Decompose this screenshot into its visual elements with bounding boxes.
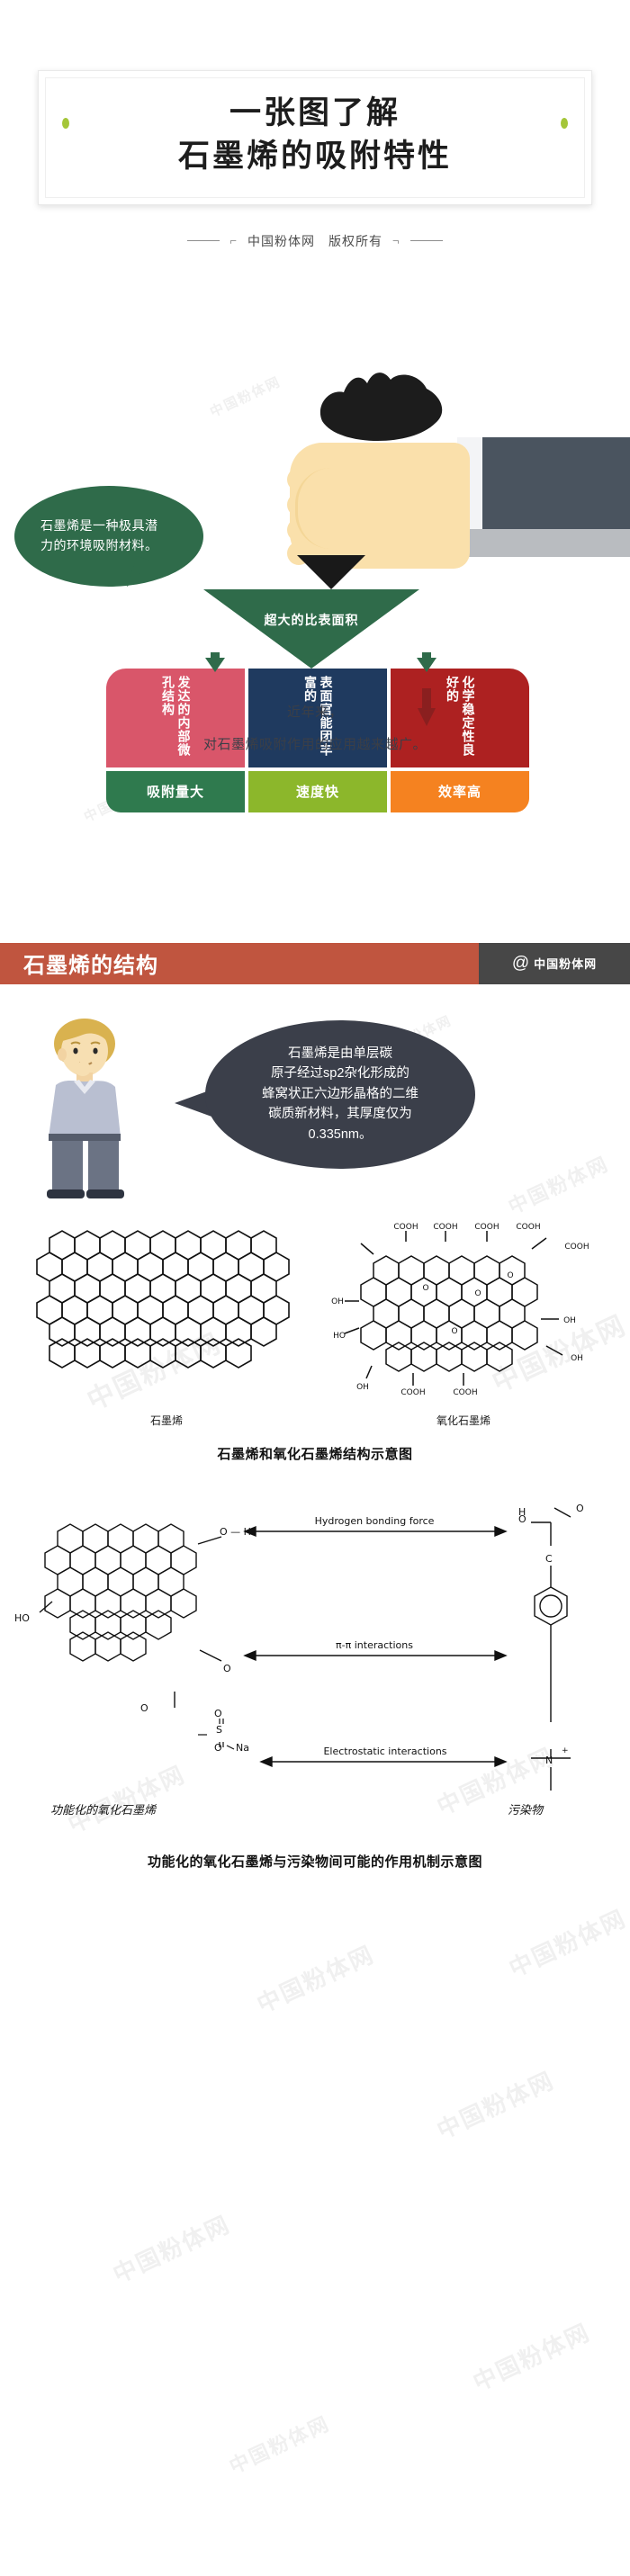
- svg-text:COOH: COOH: [516, 1223, 540, 1232]
- structure-line2: 原子经过sp2杂化形成的: [236, 1064, 445, 1083]
- structure-bubble-text: 石墨烯是由单层碳 原子经过sp2杂化形成的 蜂窝状正六边形晶格的二维 碳质新材料…: [236, 1044, 445, 1144]
- mechanism-diagram: O — H HO O O S O O Na: [0, 1463, 630, 1839]
- svg-text:COOH: COOH: [400, 1388, 425, 1397]
- interaction-3-label: Electrostatic interactions: [323, 1746, 446, 1757]
- o-bottom: O: [214, 1742, 222, 1754]
- funnel-neck: [297, 555, 365, 589]
- svg-text:COOH: COOH: [433, 1223, 457, 1232]
- page-title-line1: 一张图了解: [39, 94, 591, 134]
- intro-bubble-line1: 石墨烯是一种极具潜: [40, 516, 177, 536]
- mid-paragraph-line2: 对石墨烯吸附作用的应用越来越广。: [0, 732, 630, 758]
- structure-speech-bubble: 石墨烯是由单层碳 原子经过sp2杂化形成的 蜂窝状正六边形晶格的二维 碳质新材料…: [205, 1020, 475, 1169]
- svg-text:HO: HO: [333, 1332, 346, 1341]
- mech-right-label: 污染物: [508, 1804, 544, 1818]
- funnel-result-3-label: 效率高: [438, 782, 481, 801]
- o-top: O: [214, 1708, 222, 1719]
- c-label: C: [545, 1553, 553, 1565]
- title-frame: 一张图了解 石墨烯的吸附特性: [38, 70, 592, 205]
- mid-paragraph-line1: 近年来，: [0, 700, 630, 726]
- structure-line5: 0.335nm。: [236, 1125, 445, 1144]
- intro-speech-bubble: 石墨烯是一种极具潜 力的环境吸附材料。: [14, 486, 203, 587]
- svg-text:COOH: COOH: [474, 1223, 499, 1232]
- watermark: 中国粉体网: [467, 2314, 596, 2398]
- svg-text:O: O: [474, 1289, 481, 1298]
- svg-text:O: O: [451, 1327, 457, 1336]
- at-icon: @: [512, 955, 529, 972]
- funnel-result-3: 效率高: [391, 771, 529, 812]
- credit-text: 中国粉体网 版权所有: [247, 232, 382, 250]
- structure-line4: 碳质新材料，其厚度仅为: [236, 1104, 445, 1124]
- thumb-crease: [295, 468, 439, 549]
- boy-character-illustration: [20, 1011, 155, 1200]
- section-title: 石墨烯的结构: [23, 947, 158, 979]
- structure-figure-caption: 石墨烯和氧化石墨烯结构示意图: [0, 1444, 630, 1463]
- funnel-top-label: 超大的比表面积: [203, 611, 419, 629]
- svg-text:OH: OH: [571, 1354, 583, 1363]
- funnel-result-1-label: 吸附量大: [147, 782, 204, 801]
- arm-illustration: [290, 437, 630, 559]
- interaction-labels: Hydrogen bonding force π-π interactions …: [315, 1515, 447, 1757]
- intro-bubble-line2: 力的环境吸附材料。: [40, 536, 177, 556]
- svg-text:COOH: COOH: [564, 1243, 589, 1252]
- section-header-bar: 石墨烯的结构 @ 中国粉体网: [0, 943, 630, 984]
- so3-label: S: [216, 1724, 222, 1736]
- section-title-container: 石墨烯的结构: [0, 943, 479, 984]
- credit-bracket-left: ⌐: [229, 234, 238, 247]
- funnel-result-2: 速度快: [248, 771, 387, 812]
- structure-line1: 石墨烯是由单层碳: [236, 1044, 445, 1064]
- credit-rule-right: [410, 240, 443, 241]
- n-plus-label: N: [545, 1755, 553, 1766]
- cuff-shadow: [457, 529, 630, 557]
- watermark: 中国粉体网: [224, 2408, 334, 2480]
- interaction-2-label: π-π interactions: [336, 1639, 413, 1651]
- adsorption-funnel-section: 石墨烯是一种极具潜 力的环境吸附材料。 超大的比表面积: [0, 270, 630, 900]
- brand-badge[interactable]: @ 中国粉体网: [479, 943, 630, 984]
- brand-name: 中国粉体网: [534, 955, 597, 972]
- svg-text:OH: OH: [331, 1297, 344, 1306]
- interaction-1-label: Hydrogen bonding force: [315, 1515, 435, 1527]
- structure-line3: 蜂窝状正六边形晶格的二维: [236, 1084, 445, 1104]
- credit-line: ⌐ 中国粉体网 版权所有 ¬: [0, 232, 630, 250]
- graphene-lattice-svg: [20, 1218, 313, 1407]
- credit-bracket-right: ¬: [392, 234, 400, 247]
- mech-left-label: 功能化的氧化石墨烯: [50, 1804, 157, 1818]
- mid-paragraph-wrap: 近年来， 对石墨烯吸附作用的应用越来越广。: [0, 693, 630, 758]
- graphene-oxide-diagram: COOH COOH COOH COOH COOH OH HO OH COOH C…: [317, 1218, 610, 1428]
- funnel-result-2-label: 速度快: [296, 782, 339, 801]
- svg-text:OH: OH: [356, 1383, 369, 1392]
- mechanism-svg: O — H HO O O S O O Na: [14, 1479, 616, 1839]
- plus-charge: +: [562, 1746, 569, 1755]
- o-left-label: O: [518, 1513, 526, 1525]
- svg-text:COOH: COOH: [453, 1388, 477, 1397]
- graphene-oxide-svg: COOH COOH COOH COOH COOH OH HO OH COOH C…: [317, 1218, 610, 1407]
- molecule-diagrams-row: 石墨烯: [0, 1213, 630, 1428]
- watermark: 中国粉体网: [251, 1936, 380, 2020]
- svg-text:O: O: [507, 1271, 513, 1280]
- title-block: 一张图了解 石墨烯的吸附特性 ⌐ 中国粉体网 版权所有 ¬: [0, 0, 630, 250]
- graphene-oxide-caption: 氧化石墨烯: [317, 1413, 610, 1428]
- o-label-2: O: [140, 1702, 148, 1714]
- funnel-results: 吸附量大 速度快 效率高: [106, 771, 529, 812]
- o-double-label: O: [576, 1503, 584, 1514]
- accent-dot-right: [561, 118, 568, 129]
- graphene-lattice-diagram: 石墨烯: [20, 1218, 313, 1428]
- svg-text:O: O: [422, 1284, 428, 1293]
- funnel-triangle: [203, 589, 419, 669]
- intro-bubble-text: 石墨烯是一种极具潜 力的环境吸附材料。: [40, 516, 177, 555]
- ho-label: HO: [14, 1612, 30, 1624]
- credit-rule-left: [187, 240, 220, 241]
- svg-text:OH: OH: [563, 1316, 576, 1325]
- infographic-page: 中国粉体网 中国粉体网 中国粉体网 中国粉体网 中国粉体网 中国粉体网 中国粉体…: [0, 0, 630, 1907]
- graphene-tuft-icon: [313, 369, 448, 450]
- accent-dot-left: [62, 118, 69, 129]
- funnel-result-1: 吸附量大: [106, 771, 245, 812]
- mechanism-bottom-labels: 功能化的氧化石墨烯 污染物: [50, 1804, 544, 1818]
- watermark: 中国粉体网: [431, 2062, 560, 2146]
- structure-intro-section: 石墨烯是由单层碳 原子经过sp2杂化形成的 蜂窝状正六边形晶格的二维 碳质新材料…: [0, 1006, 630, 1213]
- na-label: Na: [236, 1742, 249, 1754]
- watermark: 中国粉体网: [503, 1900, 630, 1984]
- o-label: O: [223, 1663, 231, 1674]
- graphene-caption: 石墨烯: [20, 1413, 313, 1428]
- svg-text:COOH: COOH: [393, 1223, 418, 1232]
- mechanism-figure-caption: 功能化的氧化石墨烯与污染物间可能的作用机制示意图: [0, 1852, 630, 1907]
- page-title-line2: 石墨烯的吸附特性: [39, 138, 591, 177]
- watermark: 中国粉体网: [107, 2206, 236, 2290]
